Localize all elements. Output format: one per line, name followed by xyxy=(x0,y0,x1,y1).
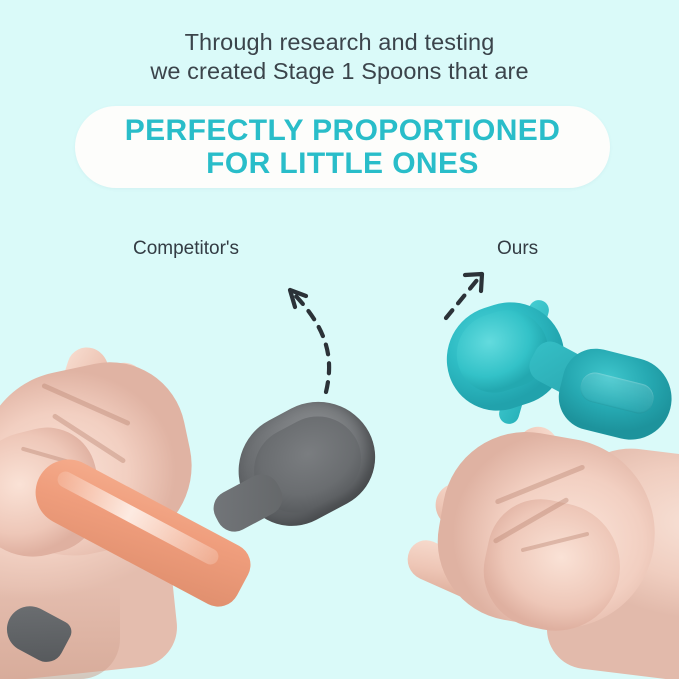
ours-spoon xyxy=(442,296,679,456)
competitor-spoon-tip xyxy=(0,598,75,668)
banner-line-1: PERFECTLY PROPORTIONED xyxy=(125,114,561,147)
banner-text: PERFECTLY PROPORTIONED FOR LITTLE ONES xyxy=(75,106,610,188)
product-comparison-image: Through research and testing we created … xyxy=(0,0,679,679)
banner-pill: PERFECTLY PROPORTIONED FOR LITTLE ONES xyxy=(75,106,610,188)
competitor-spoon xyxy=(8,398,388,668)
headline-line-2: we created Stage 1 Spoons that are xyxy=(0,57,679,86)
headline-text: Through research and testing we created … xyxy=(0,28,679,86)
baby-hand-right xyxy=(380,430,679,679)
label-competitor: Competitor's xyxy=(133,238,239,260)
headline-line-1: Through research and testing xyxy=(0,28,679,57)
banner-line-2: FOR LITTLE ONES xyxy=(206,147,479,180)
